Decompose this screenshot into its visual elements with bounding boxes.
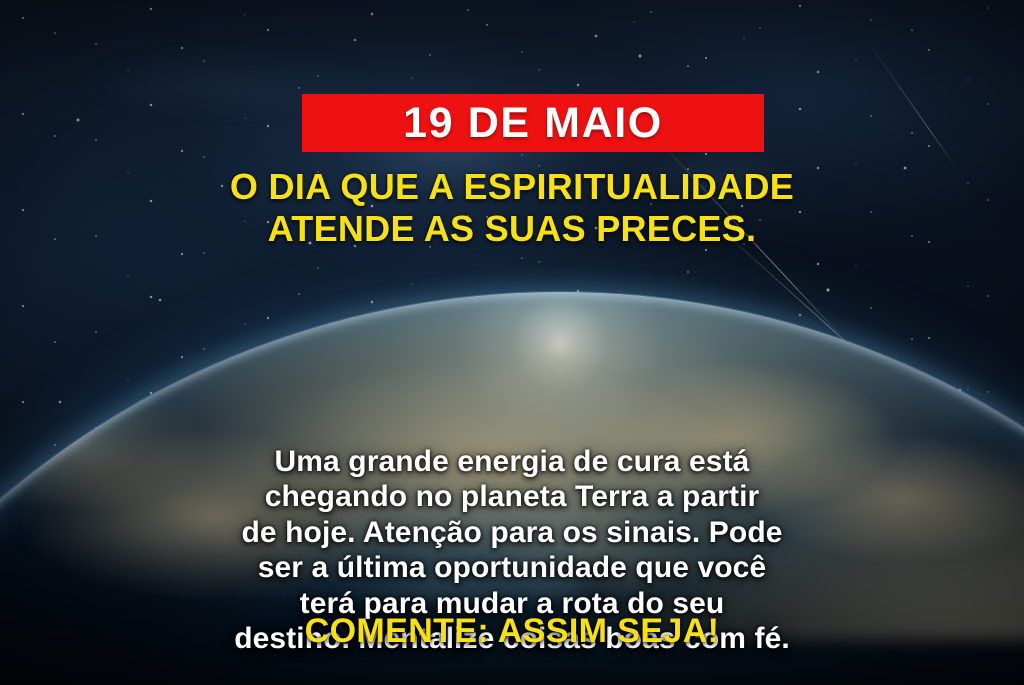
body-line-3: de hoje. Atenção para os sinais. Pode <box>0 515 1024 550</box>
headline-line-1: O DIA QUE A ESPIRITUALIDADE <box>0 166 1024 208</box>
body-line-1: Uma grande energia de cura está <box>0 444 1024 479</box>
body-line-2: chegando no planeta Terra a partir <box>0 479 1024 514</box>
poster-canvas: 19 DE MAIO O DIA QUE A ESPIRITUALIDADE A… <box>0 0 1024 685</box>
headline: O DIA QUE A ESPIRITUALIDADE ATENDE AS SU… <box>0 166 1024 250</box>
date-banner-label: 19 DE MAIO <box>403 102 663 145</box>
call-to-action-text: COMENTE: ASSIM SEJA! <box>0 613 1024 650</box>
poster-content: 19 DE MAIO O DIA QUE A ESPIRITUALIDADE A… <box>0 0 1024 685</box>
headline-line-2: ATENDE AS SUAS PRECES. <box>0 208 1024 250</box>
date-banner: 19 DE MAIO <box>302 94 764 152</box>
body-line-4: ser a última oportunidade que você <box>0 550 1024 585</box>
